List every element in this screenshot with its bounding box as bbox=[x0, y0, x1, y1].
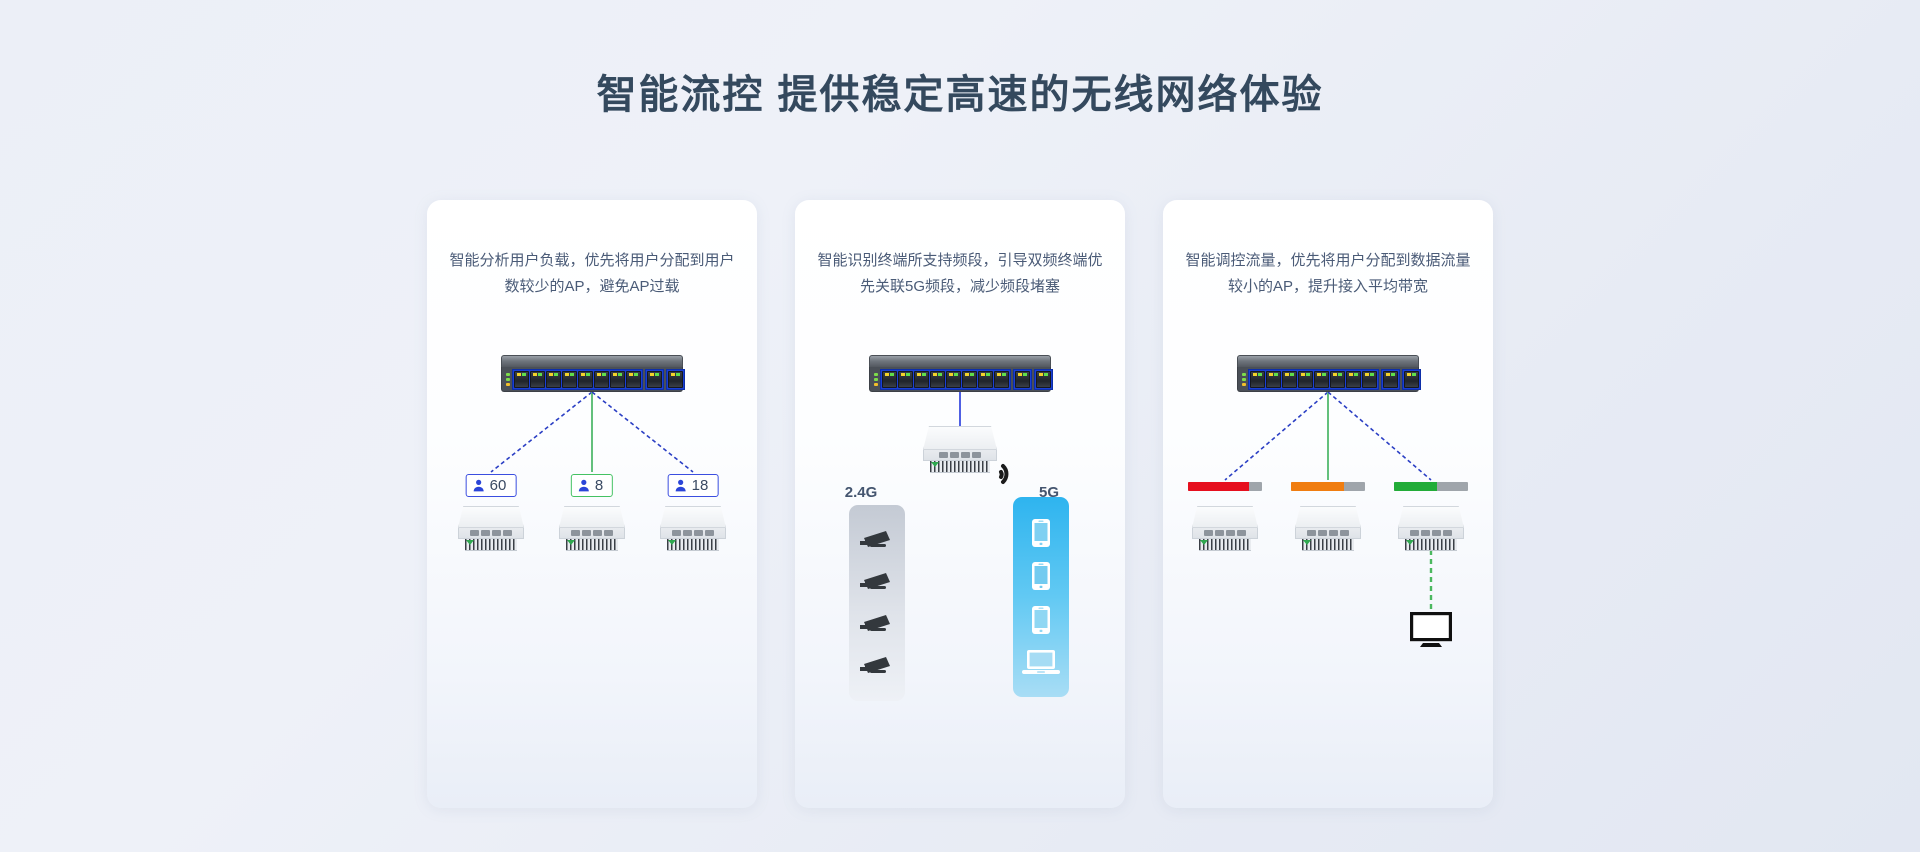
camera-panel bbox=[849, 505, 905, 701]
user-count-badge: 18 bbox=[668, 474, 719, 497]
ap-port-icon bbox=[950, 452, 959, 458]
ap-port-icon bbox=[972, 452, 981, 458]
led-power-icon bbox=[874, 378, 878, 381]
feature-card-row: 智能分析用户负载，优先将用户分配到用户数较少的AP，避免AP过载 bbox=[427, 200, 1493, 808]
rj45-port-icon bbox=[882, 371, 897, 388]
network-switch bbox=[501, 355, 683, 392]
rj45-port-icon bbox=[546, 371, 561, 388]
ap-port-icon bbox=[492, 530, 501, 536]
card-description: 智能调控流量，优先将用户分配到数据流量较小的AP，提升接入平均带宽 bbox=[1185, 248, 1471, 300]
rj45-uplink-icon bbox=[647, 371, 662, 388]
traffic-bar-fill bbox=[1394, 482, 1437, 491]
rj45-port-icon bbox=[626, 371, 641, 388]
switch-status-leds bbox=[1241, 373, 1246, 386]
user-count-value: 18 bbox=[692, 477, 709, 494]
card-description: 智能分析用户负载，优先将用户分配到用户数较少的AP，避免AP过载 bbox=[449, 248, 735, 300]
rj45-port-icon bbox=[1314, 371, 1329, 388]
user-count-badge: 8 bbox=[571, 474, 613, 497]
led-power-icon bbox=[1242, 378, 1246, 381]
ap-housing bbox=[1295, 506, 1361, 528]
phone-icon bbox=[1031, 605, 1051, 635]
ap-port-icon bbox=[503, 530, 512, 536]
rj45-port-icon bbox=[1266, 371, 1281, 388]
ap-port-icon bbox=[683, 530, 692, 536]
switch-status-leds bbox=[873, 373, 878, 386]
led-link-icon bbox=[874, 373, 878, 376]
ap-base bbox=[930, 461, 990, 473]
switch-front-panel bbox=[1237, 367, 1419, 392]
ap-port-strip bbox=[1295, 528, 1361, 539]
rj45-port-icon bbox=[562, 371, 577, 388]
laptop-icon bbox=[1022, 648, 1060, 676]
ap-housing bbox=[1192, 506, 1258, 528]
ap-base bbox=[1405, 539, 1457, 551]
switch-chassis-top bbox=[869, 355, 1051, 367]
user-count-value: 60 bbox=[490, 477, 507, 494]
rj45-port-icon bbox=[1250, 371, 1265, 388]
rj45-port-icon bbox=[594, 371, 609, 388]
ap-port-icon bbox=[604, 530, 613, 536]
smart-device-panel bbox=[1013, 497, 1069, 697]
access-point-icon bbox=[1398, 506, 1464, 551]
led-link-icon bbox=[506, 373, 510, 376]
ap-housing bbox=[923, 426, 997, 450]
band-label-24g: 2.4G bbox=[845, 484, 878, 501]
led-reset-icon bbox=[1242, 383, 1246, 386]
switch-uplink-port bbox=[1402, 369, 1421, 390]
led-link-icon bbox=[1242, 373, 1246, 376]
ap-housing bbox=[559, 506, 625, 528]
switch-status-leds bbox=[505, 373, 510, 386]
access-point-icon bbox=[660, 506, 726, 551]
led-reset-icon bbox=[874, 383, 878, 386]
page-title: 智能流控 提供稳定高速的无线网络体验 bbox=[0, 62, 1920, 120]
traffic-bar-fill bbox=[1291, 482, 1344, 491]
ap-port-icon bbox=[1340, 530, 1349, 536]
rj45-port-icon bbox=[1298, 371, 1313, 388]
switch-uplink-port bbox=[1034, 369, 1053, 390]
traffic-bar-fill bbox=[1188, 482, 1249, 491]
ap-port-icon bbox=[481, 530, 490, 536]
switch-chassis-top bbox=[1237, 355, 1419, 367]
switch-uplink-port bbox=[645, 369, 664, 390]
rj45-port-icon bbox=[914, 371, 929, 388]
rj45-port-icon bbox=[610, 371, 625, 388]
ap-port-icon bbox=[1215, 530, 1224, 536]
rj45-port-icon bbox=[898, 371, 913, 388]
user-count-badge: 60 bbox=[466, 474, 517, 497]
wifi-signal-right-icon bbox=[995, 458, 1029, 490]
ap-port-strip bbox=[923, 450, 997, 461]
ap-port-strip bbox=[1192, 528, 1258, 539]
rj45-port-icon bbox=[578, 371, 593, 388]
ap-port-icon bbox=[961, 452, 970, 458]
phone-icon bbox=[1031, 561, 1051, 591]
ap-port-icon bbox=[1226, 530, 1235, 536]
ap-port-icon bbox=[1204, 530, 1213, 536]
switch-uplink-port bbox=[666, 369, 685, 390]
ap-port-icon bbox=[939, 452, 948, 458]
user-icon bbox=[473, 479, 485, 492]
rj45-uplink-icon bbox=[668, 371, 683, 388]
ap-housing bbox=[1398, 506, 1464, 528]
rj45-port-icon bbox=[1330, 371, 1345, 388]
ap-port-strip bbox=[660, 528, 726, 539]
traffic-bar bbox=[1188, 482, 1262, 491]
switch-chassis-top bbox=[501, 355, 683, 367]
rj45-port-icon bbox=[946, 371, 961, 388]
ap-port-icon bbox=[1432, 530, 1441, 536]
led-reset-icon bbox=[506, 383, 510, 386]
rj45-port-icon bbox=[930, 371, 945, 388]
card-load-balancing: 智能分析用户负载，优先将用户分配到用户数较少的AP，避免AP过载 bbox=[427, 200, 757, 808]
rj45-port-icon bbox=[1362, 371, 1377, 388]
rj45-port-icon bbox=[514, 371, 529, 388]
access-point-icon bbox=[1295, 506, 1361, 551]
switch-uplink-port bbox=[1013, 369, 1032, 390]
ap-port-icon bbox=[1307, 530, 1316, 536]
ap-port-icon bbox=[571, 530, 580, 536]
monitor-icon bbox=[1410, 612, 1452, 648]
rj45-uplink-icon bbox=[1383, 371, 1398, 388]
ap-port-icon bbox=[1318, 530, 1327, 536]
ap-base bbox=[566, 539, 618, 551]
user-icon bbox=[675, 479, 687, 492]
cctv-camera-icon bbox=[860, 529, 894, 551]
ap-port-icon bbox=[1421, 530, 1430, 536]
ap-port-icon bbox=[470, 530, 479, 536]
cctv-camera-icon bbox=[860, 613, 894, 635]
ap-port-strip bbox=[1398, 528, 1464, 539]
rj45-port-icon bbox=[530, 371, 545, 388]
rj45-uplink-icon bbox=[1404, 371, 1419, 388]
network-switch bbox=[1237, 355, 1419, 392]
rj45-port-icon bbox=[962, 371, 977, 388]
ap-base bbox=[1302, 539, 1354, 551]
ap-port-icon bbox=[1329, 530, 1338, 536]
network-switch bbox=[869, 355, 1051, 392]
card-bandwidth-control: 智能调控流量，优先将用户分配到数据流量较小的AP，提升接入平均带宽 bbox=[1163, 200, 1493, 808]
card-description: 智能识别终端所支持频段，引导双频终端优先关联5G频段，减少频段堵塞 bbox=[817, 248, 1103, 300]
rj45-port-icon bbox=[1346, 371, 1361, 388]
access-point-icon bbox=[458, 506, 524, 551]
ap-base bbox=[1199, 539, 1251, 551]
access-point-icon bbox=[559, 506, 625, 551]
ap-housing bbox=[660, 506, 726, 528]
ap-port-icon bbox=[593, 530, 602, 536]
ap-port-icon bbox=[1237, 530, 1246, 536]
switch-uplink-port bbox=[1381, 369, 1400, 390]
switch-port-group bbox=[880, 369, 1011, 390]
traffic-bar bbox=[1291, 482, 1365, 491]
switch-port-group bbox=[1248, 369, 1379, 390]
wifi-signal-left-icon bbox=[891, 458, 925, 490]
ap-port-icon bbox=[672, 530, 681, 536]
ap-port-icon bbox=[1410, 530, 1419, 536]
switch-port-group bbox=[512, 369, 643, 390]
rj45-uplink-icon bbox=[1015, 371, 1030, 388]
ap-port-strip bbox=[458, 528, 524, 539]
ap-port-icon bbox=[1443, 530, 1452, 536]
rj45-port-icon bbox=[1282, 371, 1297, 388]
switch-front-panel bbox=[869, 367, 1051, 392]
ap-port-strip bbox=[559, 528, 625, 539]
ap-port-icon bbox=[582, 530, 591, 536]
phone-icon bbox=[1031, 518, 1051, 548]
ap-housing bbox=[458, 506, 524, 528]
ap-port-icon bbox=[694, 530, 703, 536]
user-icon bbox=[578, 479, 590, 492]
access-point-icon bbox=[1192, 506, 1258, 551]
user-count-value: 8 bbox=[595, 477, 603, 494]
rj45-port-icon bbox=[978, 371, 993, 388]
led-power-icon bbox=[506, 378, 510, 381]
ap-base bbox=[465, 539, 517, 551]
access-point-icon bbox=[923, 426, 997, 473]
cctv-camera-icon bbox=[860, 571, 894, 593]
traffic-bar bbox=[1394, 482, 1468, 491]
rj45-uplink-icon bbox=[1036, 371, 1051, 388]
switch-front-panel bbox=[501, 367, 683, 392]
rj45-port-icon bbox=[994, 371, 1009, 388]
cctv-camera-icon bbox=[860, 655, 894, 677]
ap-base bbox=[667, 539, 719, 551]
ap-port-icon bbox=[705, 530, 714, 536]
card-band-steering: 智能识别终端所支持频段，引导双频终端优先关联5G频段，减少频段堵塞 bbox=[795, 200, 1125, 808]
